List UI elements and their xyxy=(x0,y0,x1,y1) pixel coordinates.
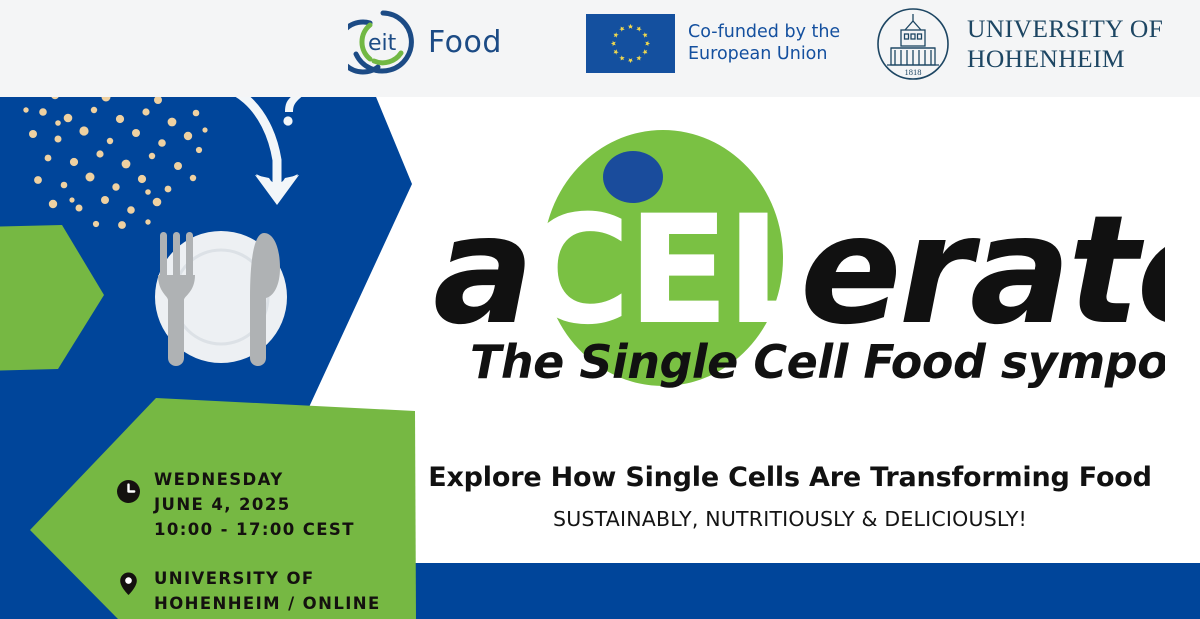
event-location-row: UNIVERSITY OF HOHENHEIM / ONLINE xyxy=(116,567,416,617)
event-details: WEDNESDAY JUNE 4, 2025 10:00 - 17:00 CES… xyxy=(116,468,416,617)
eit-food-logo: eit Food xyxy=(348,8,548,76)
logo-part-erate: erate xyxy=(800,184,1165,358)
event-venue-line-1: UNIVERSITY OF xyxy=(154,567,381,592)
crest-year: 1818 xyxy=(905,67,922,77)
hohenheim-wordmark: UNIVERSITY OF HOHENHEIM xyxy=(967,14,1163,73)
acellerate-logo-svg: a CELL erate The Single Cell Food sympos… xyxy=(425,120,1165,395)
event-date-text: WEDNESDAY JUNE 4, 2025 10:00 - 17:00 CES… xyxy=(154,468,355,542)
hohenheim-line-1: UNIVERSITY OF xyxy=(967,14,1163,44)
partner-logo-strip: eit Food xyxy=(0,0,1200,97)
acellerate-logo: a CELL erate The Single Cell Food sympos… xyxy=(425,120,1165,395)
eit-food-label: Food xyxy=(428,25,502,60)
event-day: WEDNESDAY xyxy=(154,468,355,493)
event-venue-line-2: HOHENHEIM / ONLINE xyxy=(154,592,381,617)
eit-food-mark: eit xyxy=(348,9,418,75)
eu-line-2: European Union xyxy=(688,44,840,66)
hohenheim-crest-icon: 1818 xyxy=(875,6,951,82)
eit-wordmark-text: eit xyxy=(368,31,397,56)
tagline-sub: SUSTAINABLY, NUTRITIOUSLY & DELICIOUSLY! xyxy=(425,507,1155,531)
eu-cofunding-logo: Co-funded by the European Union xyxy=(586,14,840,73)
event-banner: eit Food xyxy=(0,0,1200,619)
event-time: 10:00 - 17:00 CEST xyxy=(154,518,355,543)
event-location-text: UNIVERSITY OF HOHENHEIM / ONLINE xyxy=(154,567,381,617)
tagline-main: Explore How Single Cells Are Transformin… xyxy=(425,462,1155,493)
hohenheim-line-2: HOHENHEIM xyxy=(967,44,1163,74)
event-date-row: WEDNESDAY JUNE 4, 2025 10:00 - 17:00 CES… xyxy=(116,468,416,542)
eu-cofunding-text: Co-funded by the European Union xyxy=(688,22,840,66)
map-pin-icon xyxy=(116,571,141,596)
university-of-hohenheim-logo: 1818 UNIVERSITY OF HOHENHEIM xyxy=(875,6,1163,82)
eu-flag-icon xyxy=(586,14,675,73)
logo-part-a: a xyxy=(433,184,534,358)
clock-icon xyxy=(116,479,141,504)
logo-subtitle: The Single Cell Food symposium xyxy=(470,335,1165,389)
tagline-block: Explore How Single Cells Are Transformin… xyxy=(425,462,1155,531)
event-date: JUNE 4, 2025 xyxy=(154,493,355,518)
eu-line-1: Co-funded by the xyxy=(688,22,840,44)
partner-logos: eit Food xyxy=(330,0,1200,97)
